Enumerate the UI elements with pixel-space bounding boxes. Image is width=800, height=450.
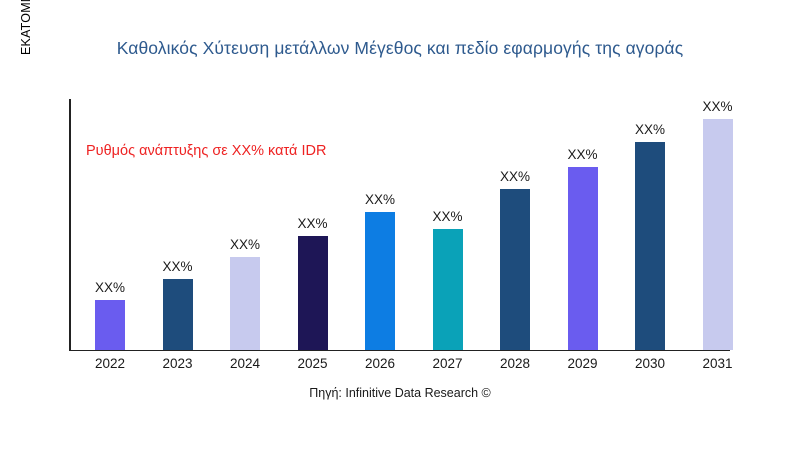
bar-2026[interactable] <box>365 212 395 350</box>
bar-group-2024[interactable]: XX% <box>212 100 278 350</box>
y-axis-label: ΕΚΑΤΟΜΜΥΡΙΑ USD <box>19 0 41 117</box>
bar-group-2025[interactable]: XX% <box>280 100 346 350</box>
bars-layer: XX%XX%XX%XX%XX%XX%XX%XX%XX%XX% <box>69 99 800 351</box>
bar-value-label: XX% <box>162 260 192 274</box>
bar-group-2029[interactable]: XX% <box>550 100 616 350</box>
bar-2030[interactable] <box>635 142 665 350</box>
bar-group-2023[interactable]: XX% <box>145 100 211 350</box>
bar-group-2031[interactable]: XX% <box>685 100 751 350</box>
chart-container: Καθολικός Χύτευση μετάλλων Μέγεθος και π… <box>0 0 800 450</box>
bar-2028[interactable] <box>500 189 530 350</box>
bar-value-label: XX% <box>95 281 125 295</box>
bar-value-label: XX% <box>230 238 260 252</box>
x-tick-2024: 2024 <box>212 356 278 371</box>
bar-group-2028[interactable]: XX% <box>482 100 548 350</box>
x-tick-2022: 2022 <box>77 356 143 371</box>
x-axis-ticks: 2022202320242025202620272028202920302031 <box>69 356 800 378</box>
bar-2029[interactable] <box>568 167 598 350</box>
bar-2025[interactable] <box>298 236 328 350</box>
chart-title: Καθολικός Χύτευση μετάλλων Μέγεθος και π… <box>0 38 800 59</box>
bar-2023[interactable] <box>163 279 193 350</box>
bar-value-label: XX% <box>567 148 597 162</box>
x-tick-2023: 2023 <box>145 356 211 371</box>
x-tick-2029: 2029 <box>550 356 616 371</box>
x-tick-2028: 2028 <box>482 356 548 371</box>
bar-value-label: XX% <box>635 123 665 137</box>
bar-2031[interactable] <box>703 119 733 350</box>
bar-2024[interactable] <box>230 257 260 350</box>
bar-group-2026[interactable]: XX% <box>347 100 413 350</box>
bar-value-label: XX% <box>702 100 732 114</box>
y-axis-label-text: ΕΚΑΤΟΜΜΥΡΙΑ USD <box>19 0 33 117</box>
x-tick-2025: 2025 <box>280 356 346 371</box>
bar-group-2030[interactable]: XX% <box>617 100 683 350</box>
x-tick-2026: 2026 <box>347 356 413 371</box>
x-tick-2027: 2027 <box>415 356 481 371</box>
bar-value-label: XX% <box>432 210 462 224</box>
bar-2022[interactable] <box>95 300 125 350</box>
source-note: Πηγή: Infinitive Data Research © <box>0 386 800 400</box>
bar-value-label: XX% <box>365 193 395 207</box>
bar-group-2022[interactable]: XX% <box>77 100 143 350</box>
bar-value-label: XX% <box>297 217 327 231</box>
bar-value-label: XX% <box>500 170 530 184</box>
x-tick-2031: 2031 <box>685 356 751 371</box>
bar-group-2027[interactable]: XX% <box>415 100 481 350</box>
x-tick-2030: 2030 <box>617 356 683 371</box>
bar-2027[interactable] <box>433 229 463 350</box>
